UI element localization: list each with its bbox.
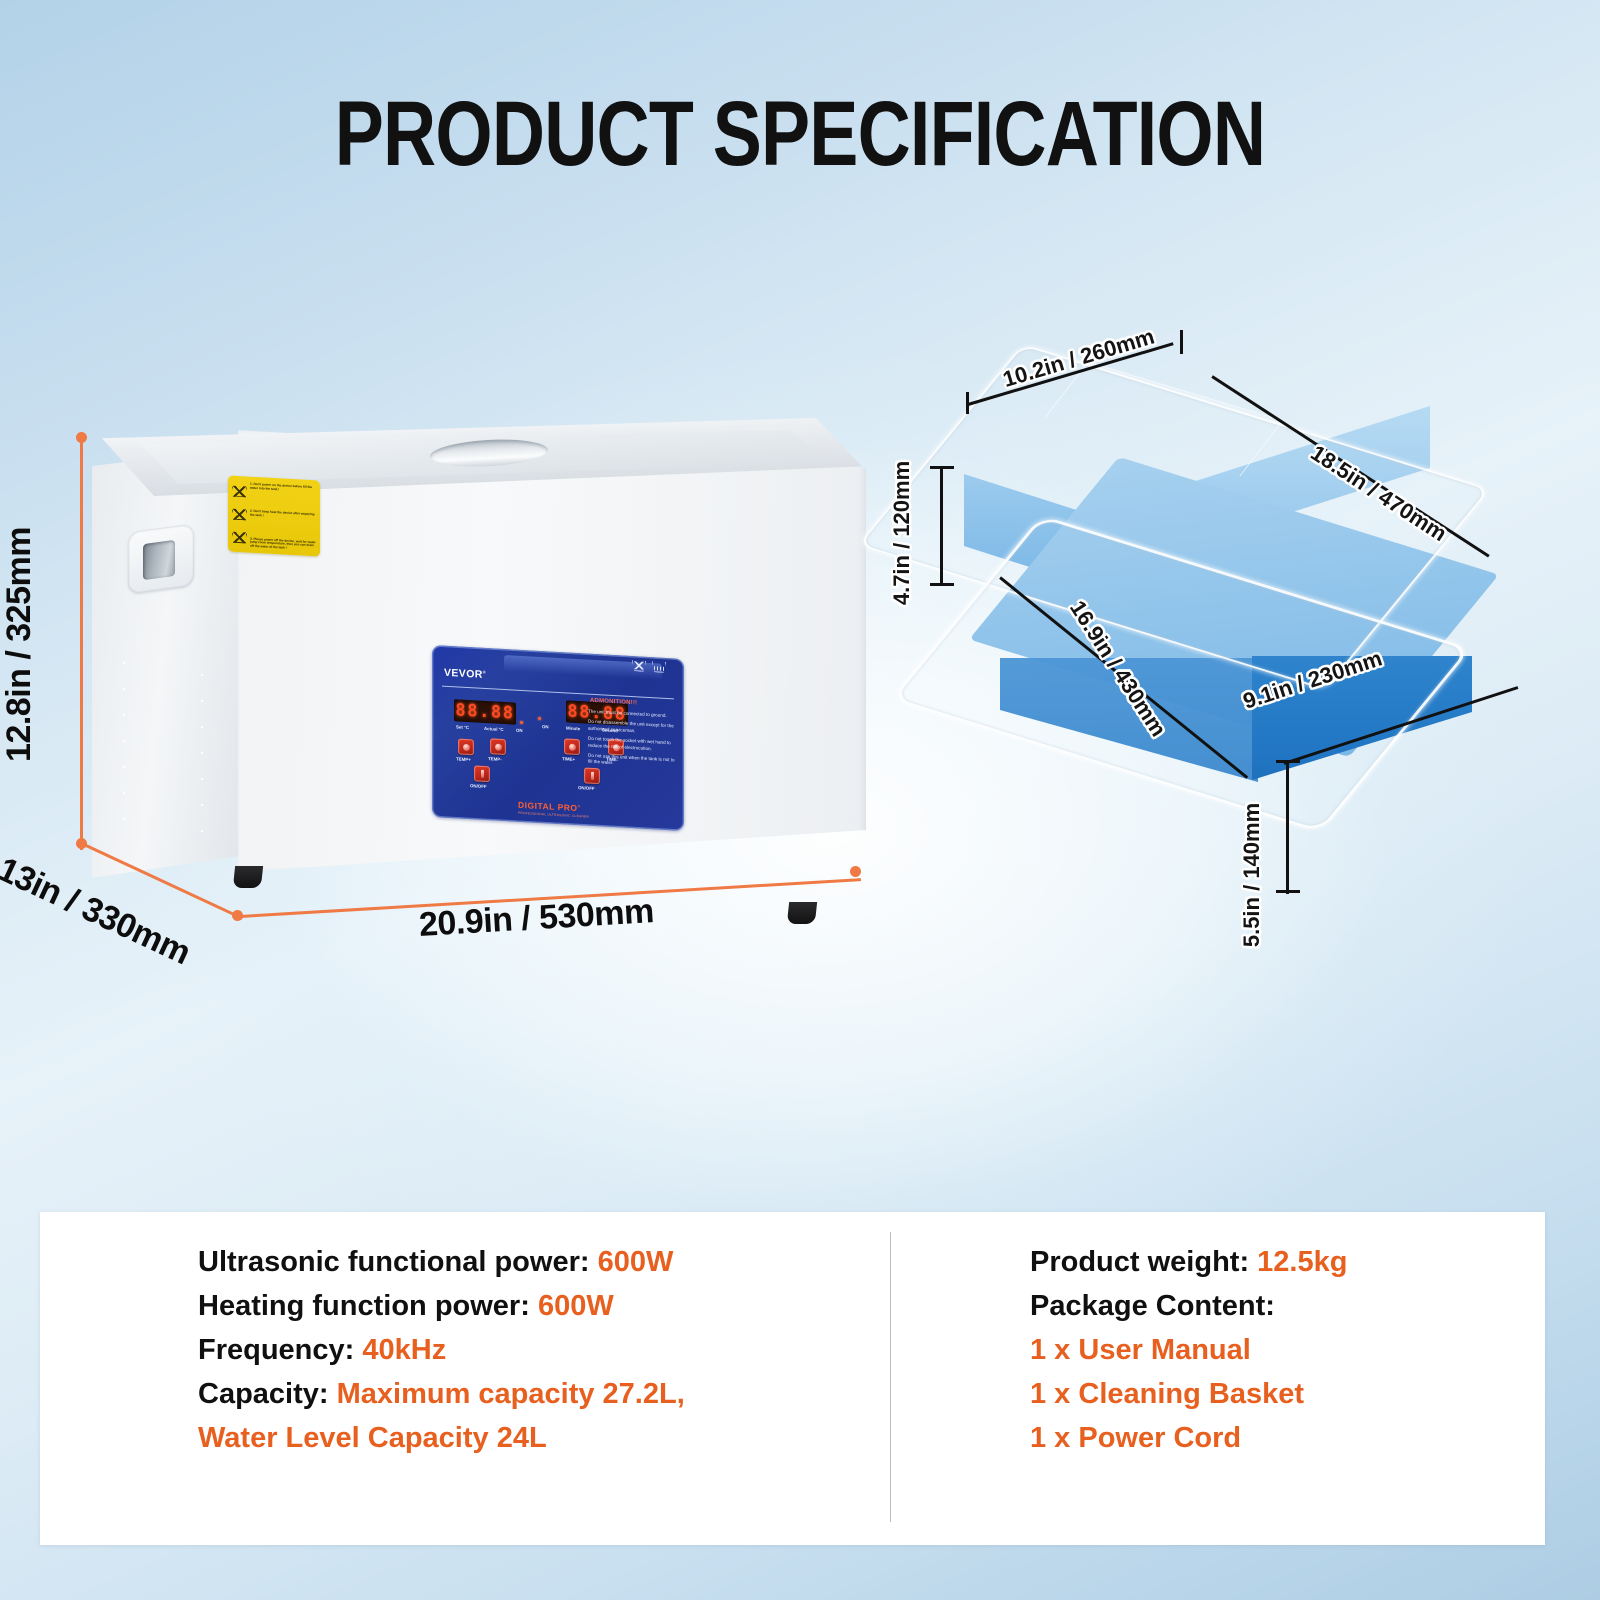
cleaner-height-label: 12.8in / 325mm xyxy=(0,527,39,762)
warning-sticker: 1. Don't power on the device before fill… xyxy=(228,475,320,556)
cleaner-side-panel xyxy=(92,448,240,878)
label-time-up: TIME+ xyxy=(562,756,575,762)
on-indicator-right xyxy=(538,717,541,720)
water-level-icon xyxy=(652,661,666,673)
cleaner-foot-right xyxy=(787,902,817,924)
side-handle-slot xyxy=(143,540,175,580)
basket-topwidth-tick-left xyxy=(966,392,969,414)
spec-column-right: Product weight: 12.5kg Package Content: … xyxy=(1030,1240,1500,1460)
spec-label: Package Content: xyxy=(1030,1290,1275,1322)
temperature-display: 88.88 xyxy=(454,699,516,724)
vent-perforations-right xyxy=(196,661,208,833)
brand-logo: VEVOR® xyxy=(444,667,486,681)
cleaner-foot-left xyxy=(233,866,263,888)
spec-value: Maximum capacity 27.2L, xyxy=(337,1378,685,1410)
spec-label: Ultrasonic functional power: xyxy=(198,1246,598,1278)
drain-water-icon xyxy=(232,531,247,545)
on-indicator-left xyxy=(520,721,523,724)
spec-row-capacity-continued: Water Level Capacity 24L xyxy=(198,1416,858,1460)
basket-innerheight-tick-bottom xyxy=(1276,890,1300,893)
no-power-dry-icon xyxy=(232,484,247,498)
spec-label: Frequency: xyxy=(198,1334,362,1366)
package-item: 1 x Cleaning Basket xyxy=(1030,1372,1500,1416)
package-item: 1 x Power Cord xyxy=(1030,1416,1500,1460)
spec-column-divider xyxy=(890,1232,891,1522)
temp-onoff-button[interactable] xyxy=(474,765,490,782)
spec-row-ultrasonic-power: Ultrasonic functional power: 600W xyxy=(198,1240,858,1284)
warning-sticker-icons xyxy=(232,481,247,549)
label-on-right: ON xyxy=(542,724,549,729)
label-set-c: Set °C xyxy=(456,724,469,730)
package-item: 1 x User Manual xyxy=(1030,1328,1500,1372)
warning-line: 2. Don't keep heat the device after empt… xyxy=(250,510,316,521)
spec-column-left: Ultrasonic functional power: 600W Heatin… xyxy=(198,1240,858,1460)
admonition-item: Do not touch the socket with wet hand to… xyxy=(588,736,680,754)
label-temp-onoff: ON/OFF xyxy=(470,783,487,789)
spec-label: Heating function power: xyxy=(198,1290,538,1322)
temp-up-button[interactable] xyxy=(458,738,474,755)
vent-perforations-left xyxy=(118,649,130,821)
brand-name: VEVOR xyxy=(444,667,483,681)
label-actual-c: Actual °C xyxy=(484,726,504,732)
height-dimension-line xyxy=(80,438,83,850)
spec-label: Product weight: xyxy=(1030,1246,1257,1278)
spec-row-frequency: Frequency: 40kHz xyxy=(198,1328,858,1372)
spec-value: 600W xyxy=(538,1290,614,1322)
spec-value: 600W xyxy=(598,1246,674,1278)
warning-line: 1. Don't power on the device before fill… xyxy=(250,483,316,494)
warning-line: 3. Please power off the device, wait for… xyxy=(250,537,316,552)
control-panel[interactable]: VEVOR® 88.88 Set °C Actual °C ON TEMP+ T… xyxy=(432,645,684,831)
spec-row-heating-power: Heating function power: 600W xyxy=(198,1284,858,1328)
no-heat-empty-icon xyxy=(232,508,247,522)
no-wash-icon xyxy=(632,660,646,672)
spec-row-product-weight: Product weight: 12.5kg xyxy=(1030,1240,1500,1284)
time-onoff-button[interactable] xyxy=(584,767,600,784)
digital-pro-tm: ® xyxy=(578,804,581,808)
label-time-onoff: ON/OFF xyxy=(578,785,595,791)
basket-topwidth-tick-right xyxy=(1180,330,1183,354)
label-temp-down: TEMP- xyxy=(488,756,502,762)
spec-row-capacity: Capacity: Maximum capacity 27.2L, xyxy=(198,1372,858,1416)
label-on-left: ON xyxy=(516,728,523,733)
temp-down-button[interactable] xyxy=(490,738,506,755)
panel-divider xyxy=(442,686,674,700)
warning-sticker-text: 1. Don't power on the device before fill… xyxy=(250,482,316,553)
spec-row-package-content: Package Content: xyxy=(1030,1284,1500,1328)
spec-label: Capacity: xyxy=(198,1378,337,1410)
admonition-body: The unit must be connected to ground. Do… xyxy=(588,709,680,775)
admonition-item: Do not disassemble the unit except for t… xyxy=(588,719,680,737)
basket-inner-height-label: 5.5in / 140mm xyxy=(1239,803,1265,947)
label-temp-up: TEMP+ xyxy=(456,756,471,762)
basket-innerheight-tick-top xyxy=(1276,760,1300,763)
time-up-button[interactable] xyxy=(564,738,580,755)
page-title: PRODUCT SPECIFICATION xyxy=(160,88,1440,180)
width-dimension-dot xyxy=(850,866,861,877)
label-minute: Minute xyxy=(566,725,580,731)
spec-value: 12.5kg xyxy=(1257,1246,1347,1278)
spec-value: 40kHz xyxy=(362,1334,446,1366)
admonition-item: Do not use this unit when the tank is no… xyxy=(588,752,680,770)
basket-outer-height-label: 4.7in / 120mm xyxy=(889,461,915,605)
basket-outerheight-tick-top xyxy=(930,466,954,469)
height-dimension-dot-top xyxy=(76,432,87,443)
brand-tm: ® xyxy=(483,669,486,674)
basket-outerheight-line xyxy=(940,468,943,586)
basket-outerheight-tick-bottom xyxy=(930,583,954,586)
basket-innerheight-line xyxy=(1286,762,1289,894)
